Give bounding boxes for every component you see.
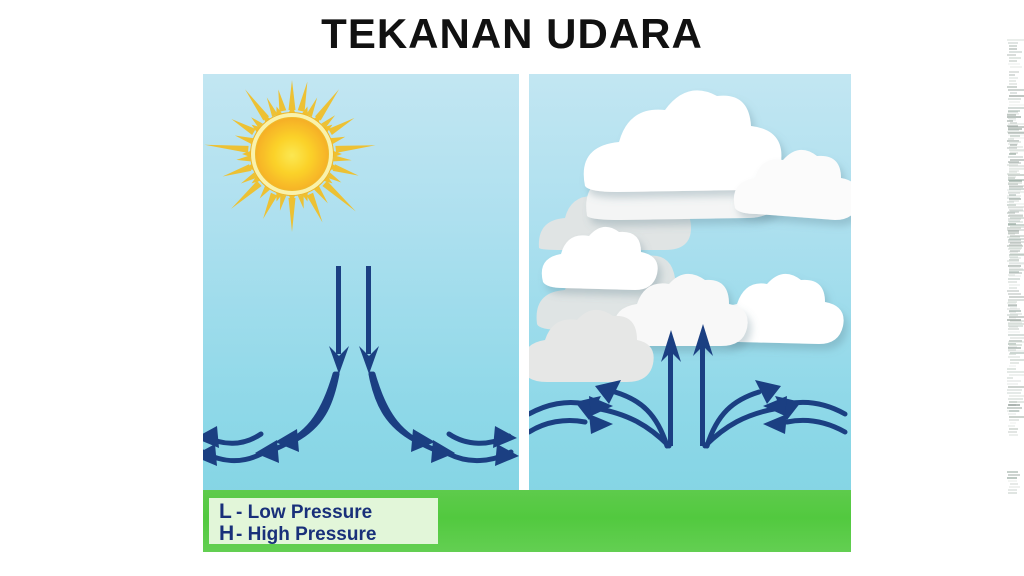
- legend-dash-high: -: [236, 524, 242, 545]
- sliver-text-line: [1009, 170, 1019, 172]
- air-pressure-diagram: H: [203, 74, 851, 552]
- pressure-legend: L- Low Pressure H- High Pressure: [209, 498, 438, 544]
- sliver-text-line: [1007, 197, 1020, 199]
- sliver-text-line: [1009, 284, 1020, 286]
- sliver-text-line: [1009, 395, 1024, 397]
- sliver-text-line: [1009, 214, 1023, 216]
- sliver-text-line: [1007, 319, 1021, 321]
- sliver-text-line: [1010, 359, 1024, 361]
- sliver-text-line: [1008, 301, 1017, 303]
- sliver-text-line: [1007, 389, 1022, 391]
- sliver-text-line: [1009, 296, 1024, 298]
- sliver-text-line: [1008, 480, 1017, 482]
- sliver-text-line: [1010, 307, 1017, 309]
- sliver-text-line: [1009, 254, 1024, 256]
- sliver-text-line: [1008, 63, 1020, 65]
- sliver-text-line: [1008, 398, 1023, 400]
- sliver-text-line: [1007, 86, 1017, 88]
- sliver-text-line: [1008, 129, 1019, 131]
- sliver-text-line: [1009, 48, 1017, 50]
- sliver-text-line: [1009, 419, 1019, 421]
- sliver-text-line: [1009, 101, 1020, 103]
- sliver-text-line: [1009, 275, 1021, 277]
- sliver-text-line: [1007, 471, 1018, 473]
- sliver-text-line: [1009, 83, 1017, 85]
- high-pressure-artwork: [203, 74, 519, 552]
- sliver-text-line: [1009, 244, 1022, 246]
- sliver-text-line: [1008, 98, 1021, 100]
- sliver-text-line: [1009, 51, 1022, 53]
- sliver-text-line: [1009, 266, 1020, 268]
- sliver-text-line: [1009, 194, 1016, 196]
- sliver-text-line: [1008, 328, 1019, 330]
- clouds-icon: [529, 90, 851, 382]
- legend-row: L- Low Pressure: [219, 501, 438, 523]
- sliver-text-line: [1007, 147, 1017, 149]
- sliver-text-line: [1007, 173, 1020, 175]
- sliver-text-line: [1007, 290, 1019, 292]
- sliver-text-line: [1009, 272, 1022, 274]
- sliver-text-line: [1008, 220, 1020, 222]
- sliver-text-line: [1008, 89, 1024, 91]
- sliver-text-line: [1009, 104, 1024, 106]
- sliver-text-line: [1007, 164, 1018, 166]
- diverging-surface-arrows: [203, 374, 511, 461]
- sliver-text-line: [1008, 117, 1016, 119]
- sliver-text-line: [1010, 422, 1016, 424]
- sliver-text-line: [1008, 293, 1021, 295]
- sliver-text-line: [1008, 211, 1019, 213]
- sliver-text-line: [1007, 371, 1024, 373]
- sliver-text-line: [1009, 167, 1024, 169]
- sun-icon: [204, 80, 376, 232]
- sliver-text-line: [1009, 344, 1022, 346]
- sliver-text-line: [1009, 95, 1024, 97]
- sliver-text-line: [1008, 325, 1023, 327]
- sliver-text-line: [1007, 260, 1019, 262]
- sliver-text-line: [1009, 188, 1024, 190]
- sliver-text-line: [1007, 407, 1022, 409]
- sliver-text-line: [1010, 217, 1024, 219]
- sliver-text-line: [1008, 123, 1024, 125]
- sliver-text-line: [1009, 247, 1022, 249]
- low-pressure-artwork: [529, 74, 851, 552]
- sliver-text-line: [1008, 474, 1020, 476]
- sliver-text-line: [1008, 331, 1020, 333]
- sliver-text-line: [1007, 383, 1018, 385]
- sliver-text-line: [1008, 404, 1020, 406]
- sliver-text-line: [1008, 223, 1016, 225]
- sliver-text-line: [1010, 235, 1024, 237]
- sliver-text-line: [1008, 126, 1024, 128]
- sliver-text-line: [1007, 39, 1024, 41]
- sliver-text-line: [1007, 368, 1016, 370]
- sliver-text-line: [1009, 74, 1015, 76]
- sliver-text-line: [1009, 77, 1018, 79]
- sliver-text-line: [1008, 161, 1019, 163]
- sliver-text-line: [1008, 42, 1018, 44]
- sliver-text-line: [1008, 425, 1015, 427]
- sliver-text-line: [1010, 483, 1018, 485]
- sliver-text-line: [1009, 269, 1024, 271]
- sliver-text-line: [1010, 135, 1020, 137]
- sliver-text-line: [1008, 386, 1024, 388]
- sliver-text-line: [1009, 316, 1024, 318]
- sliver-text-line: [1010, 313, 1022, 315]
- sliver-text-line: [1007, 392, 1021, 394]
- sliver-text-line: [1008, 489, 1017, 491]
- sliver-text-line: [1009, 310, 1021, 312]
- sliver-text-line: [1009, 200, 1019, 202]
- sliver-text-line: [1007, 377, 1013, 379]
- sliver-text-line: [1007, 477, 1017, 479]
- sliver-text-line: [1010, 226, 1024, 228]
- sliver-text-line: [1009, 141, 1021, 143]
- sliver-text-line: [1009, 238, 1024, 240]
- sliver-text-line: [1009, 251, 1018, 253]
- sliver-text-line: [1008, 107, 1024, 109]
- sliver-text-line: [1009, 263, 1024, 265]
- sliver-text-line: [1010, 144, 1017, 146]
- sliver-text-line: [1010, 66, 1022, 68]
- sliver-text-line: [1009, 434, 1018, 436]
- sliver-text-line: [1009, 374, 1024, 376]
- legend-dash-low: -: [236, 502, 242, 523]
- sliver-text-line: [1010, 92, 1017, 94]
- sliver-text-line: [1008, 281, 1017, 283]
- legend-key-low: L: [219, 501, 236, 522]
- sliver-text-line: [1009, 486, 1020, 488]
- sliver-text-line: [1008, 334, 1024, 336]
- sliver-text-line: [1007, 380, 1021, 382]
- sliver-text-line: [1009, 57, 1021, 59]
- sliver-text-line: [1009, 401, 1017, 403]
- legend-row: H- High Pressure: [219, 523, 438, 545]
- descending-air-arrows: [329, 266, 379, 374]
- sliver-text-line: [1008, 132, 1024, 134]
- sliver-text-line: [1008, 278, 1020, 280]
- converging-arrow-heads: [575, 380, 801, 434]
- sliver-text-line: [1008, 304, 1017, 306]
- sliver-text-line: [1008, 431, 1017, 433]
- legend-key-high: H: [219, 523, 236, 544]
- sliver-text-line: [1008, 111, 1018, 113]
- sliver-text-line: [1007, 54, 1016, 56]
- sliver-text-line: [1008, 350, 1024, 352]
- sliver-text-line: [1009, 203, 1024, 205]
- page-title: TEKANAN UDARA: [0, 10, 1024, 58]
- sliver-text-line: [1008, 156, 1023, 158]
- sliver-text-line: [1008, 322, 1022, 324]
- sliver-text-line: [1008, 182, 1022, 184]
- sliver-text-line: [1008, 492, 1017, 494]
- panel-high-pressure: H: [203, 74, 519, 552]
- sliver-text-line: [1007, 114, 1016, 116]
- converging-surface-arrows: [529, 392, 845, 446]
- sliver-text-line: [1008, 341, 1024, 343]
- sliver-text-line: [1008, 347, 1021, 349]
- sliver-text-line: [1007, 229, 1024, 231]
- sliver-text-line: [1010, 257, 1021, 259]
- sliver-text-line: [1008, 206, 1024, 208]
- sliver-text-line: [1007, 120, 1013, 122]
- sliver-text-line: [1009, 410, 1019, 412]
- adjacent-page-sliver: [1002, 0, 1024, 576]
- sliver-text-line: [1009, 153, 1016, 155]
- sliver-text-line: [1008, 179, 1024, 181]
- sliver-text-line: [1009, 353, 1016, 355]
- panel-divider: [519, 74, 529, 552]
- sliver-text-line: [1010, 150, 1024, 152]
- sliver-text-line: [1009, 80, 1016, 82]
- sliver-text-line: [1008, 356, 1020, 358]
- sliver-text-line: [1008, 176, 1016, 178]
- sliver-text-line: [1009, 416, 1024, 418]
- sliver-text-line: [1008, 413, 1016, 415]
- sliver-text-line: [1009, 60, 1017, 62]
- legend-label-low: Low Pressure: [248, 502, 373, 523]
- sliver-text-line: [1008, 241, 1024, 243]
- sliver-text-line: [1009, 45, 1017, 47]
- sliver-text-line: [1009, 287, 1017, 289]
- sliver-text-line: [1009, 71, 1019, 73]
- panel-low-pressure: L: [529, 74, 851, 552]
- sliver-text-line: [1009, 365, 1016, 367]
- sliver-text-line: [1010, 362, 1019, 364]
- sliver-text-line: [1008, 191, 1024, 193]
- legend-label-high: High Pressure: [248, 524, 377, 545]
- sliver-text-line: [1009, 428, 1018, 430]
- sliver-text-line: [1009, 185, 1024, 187]
- sliver-text-line: [1008, 138, 1014, 140]
- sliver-text-line: [1010, 337, 1024, 339]
- sliver-text-line: [1008, 232, 1019, 234]
